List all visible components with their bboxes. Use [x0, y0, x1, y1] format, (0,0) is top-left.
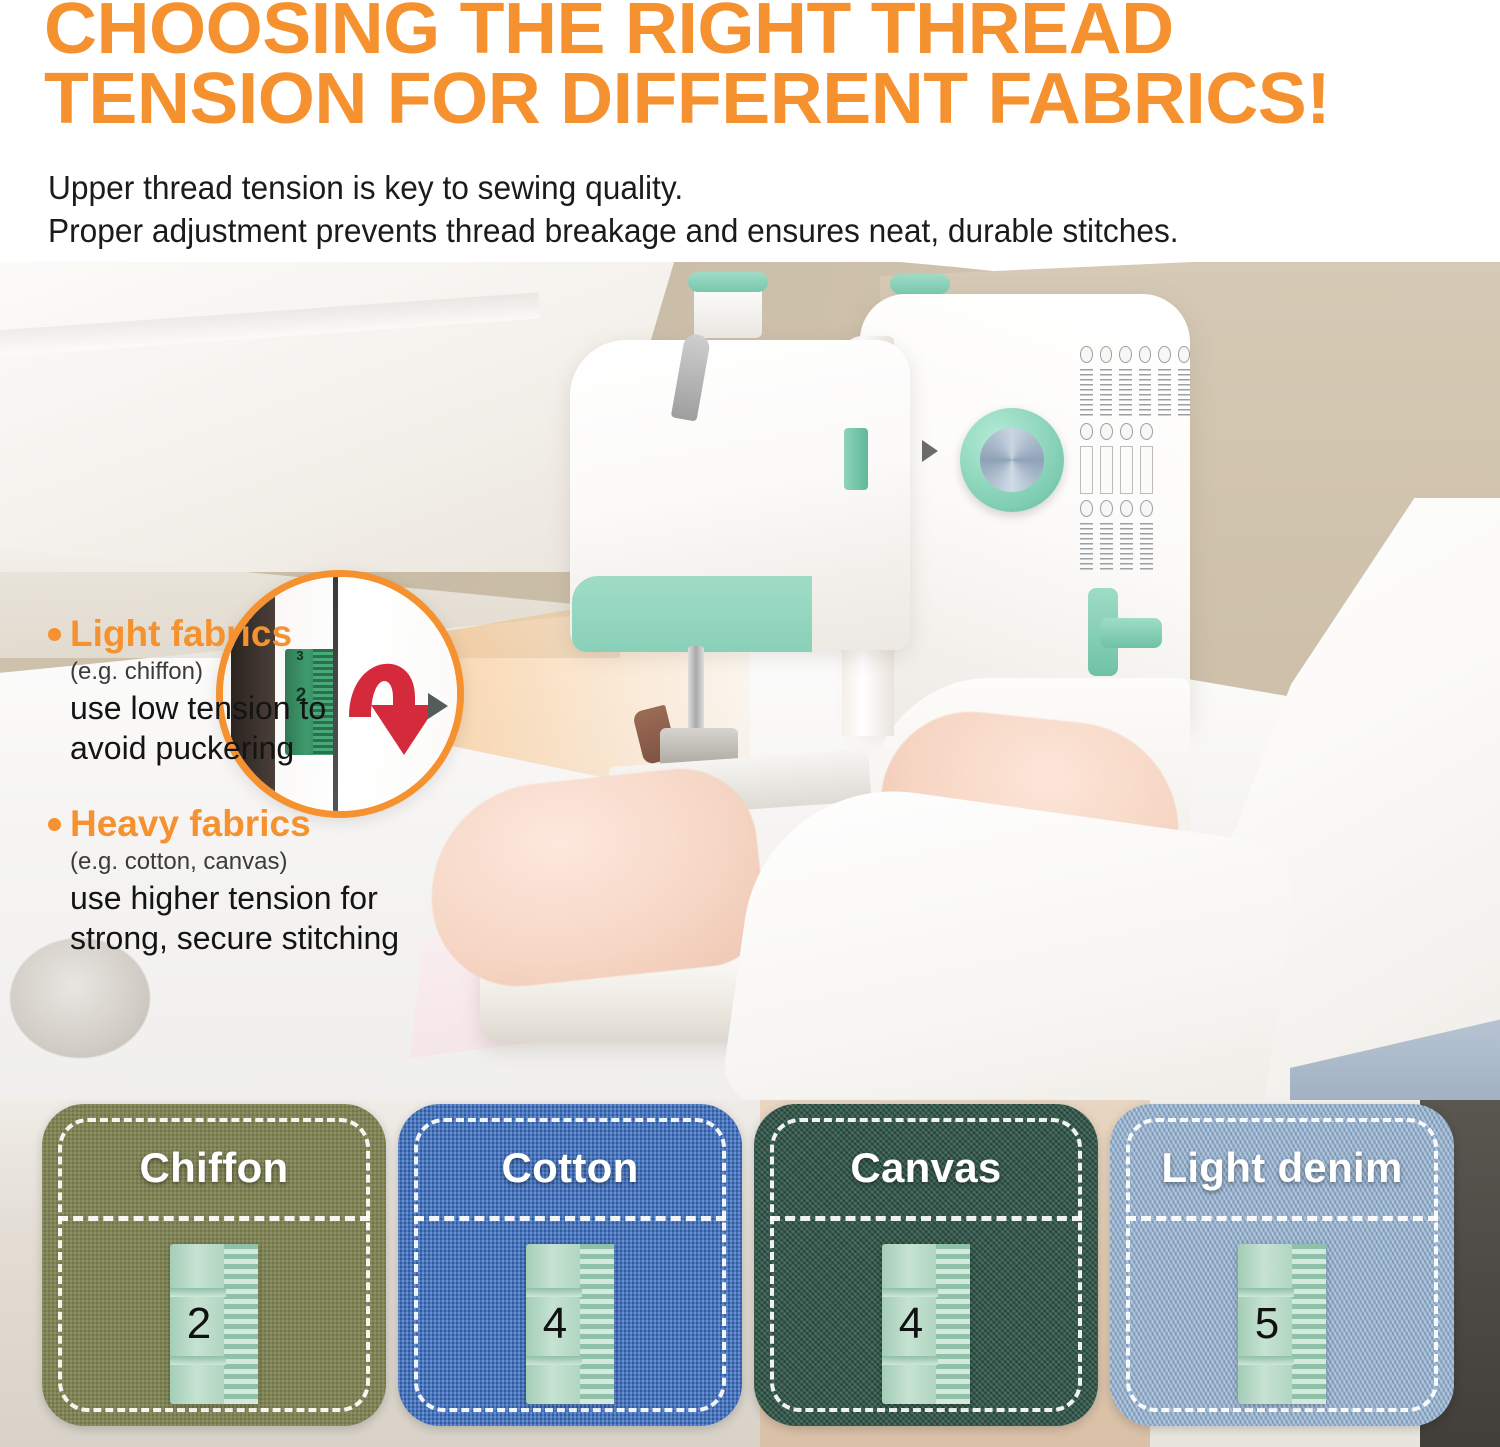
stitch-selector-pointer-icon — [922, 440, 938, 462]
stitch-number-icon — [1140, 423, 1153, 440]
tip-body-line-2: strong, secure stitching — [70, 918, 518, 958]
stitch-chart-row — [1080, 500, 1190, 517]
header: CHOOSING THE RIGHT THREAD TENSION FOR DI… — [0, 0, 1500, 262]
fabric-card-label: Canvas — [754, 1144, 1098, 1192]
stitch-pattern-icon — [1178, 369, 1191, 417]
tip-example: (e.g. cotton, canvas) — [70, 846, 518, 878]
stitch-pattern-icon — [1120, 523, 1133, 571]
stitch-pattern-icon — [1080, 446, 1093, 494]
stitch-selector-dial — [960, 408, 1064, 512]
stitch-pattern-icon — [1100, 369, 1113, 417]
tension-dial-side — [844, 428, 868, 490]
spool-pin-cap — [688, 272, 768, 292]
stitch-divider — [770, 1216, 1082, 1221]
fabric-card-label: Chiffon — [42, 1144, 386, 1192]
stitch-chart-row — [1080, 523, 1190, 571]
stitch-pattern-icon — [1119, 369, 1132, 417]
stitch-number-icon — [1139, 346, 1152, 363]
tension-knob-notch — [1238, 1356, 1294, 1365]
stitch-divider — [58, 1216, 370, 1221]
subtitle-line-2: Proper adjustment prevents thread breaka… — [48, 209, 1421, 252]
stitch-divider — [1126, 1216, 1438, 1221]
tip-example: (e.g. chiffon) — [70, 656, 518, 688]
tension-knob-notch — [170, 1288, 226, 1297]
stitch-number-icon — [1120, 423, 1133, 440]
stitch-chart-row — [1080, 346, 1190, 363]
stitch-pattern-icon — [1100, 446, 1113, 494]
tip-heading-label: Light fabrics — [70, 612, 292, 656]
tension-knob[interactable]: 4 — [882, 1244, 970, 1404]
machine-arm-teal-trim — [572, 576, 812, 652]
tension-knob-ridges — [224, 1244, 258, 1404]
stitch-pattern-icon — [1140, 446, 1153, 494]
fabric-tension-cards: Chiffon 2 Cotton 4 Canvas 4 — [0, 1100, 1500, 1447]
stitch-selector-dial-face — [980, 428, 1044, 492]
tip-light-fabrics: Light fabrics (e.g. chiffon) use low ten… — [48, 612, 518, 768]
page-subtitle: Upper thread tension is key to sewing qu… — [48, 166, 1421, 252]
title-line-2: TENSION FOR DIFFERENT FABRICS! — [44, 64, 1500, 134]
fabric-card-cotton[interactable]: Cotton 4 — [398, 1104, 742, 1426]
tip-body: use low tension to avoid puckering — [70, 688, 518, 768]
stitch-pattern-icon — [1080, 369, 1093, 417]
tension-value: 4 — [884, 1300, 938, 1348]
tension-knob[interactable]: 2 — [170, 1244, 258, 1404]
fabric-tips-list: Light fabrics (e.g. chiffon) use low ten… — [48, 612, 518, 992]
stitch-divider — [414, 1216, 726, 1221]
stitch-number-icon — [1080, 423, 1093, 440]
presser-foot-lifter — [1100, 618, 1162, 648]
stitch-chart-row — [1080, 369, 1190, 417]
tip-body-line-2: avoid puckering — [70, 728, 518, 768]
tension-value: 4 — [528, 1300, 582, 1348]
tip-heavy-fabrics: Heavy fabrics (e.g. cotton, canvas) use … — [48, 802, 518, 958]
stitch-number-icon — [1120, 500, 1133, 517]
tip-heading-label: Heavy fabrics — [70, 802, 311, 846]
stitch-pattern-icon — [1140, 523, 1153, 571]
fabric-card-chiffon[interactable]: Chiffon 2 — [42, 1104, 386, 1426]
tension-knob-notch — [882, 1356, 938, 1365]
stitch-chart-row — [1080, 446, 1190, 494]
tension-knob-notch — [526, 1356, 582, 1365]
tip-heading: Light fabrics — [48, 612, 518, 656]
subtitle-line-1: Upper thread tension is key to sewing qu… — [48, 166, 1421, 209]
tension-knob-notch — [882, 1288, 938, 1297]
stitch-number-icon — [1100, 423, 1113, 440]
tension-knob[interactable]: 5 — [1238, 1244, 1326, 1404]
fabric-card-label: Cotton — [398, 1144, 742, 1192]
stitch-chart-row — [1080, 423, 1190, 440]
stitch-pattern-icon — [1139, 369, 1152, 417]
cabinet-edge-line — [0, 292, 540, 357]
fabric-card-light-denim[interactable]: Light denim 5 — [1110, 1104, 1454, 1426]
stitch-number-icon — [1100, 500, 1113, 517]
stitch-number-icon — [1119, 346, 1132, 363]
bobbin-winder — [890, 274, 950, 294]
stitch-pattern-icon — [1158, 369, 1171, 417]
stitch-pattern-icon — [1120, 446, 1133, 494]
tension-knob-notch — [526, 1288, 582, 1297]
tip-body: use higher tension for strong, secure st… — [70, 878, 518, 958]
tip-body-line-1: use higher tension for — [70, 878, 518, 918]
stitch-number-icon — [1080, 346, 1093, 363]
stitch-number-icon — [1140, 500, 1153, 517]
page-title: CHOOSING THE RIGHT THREAD TENSION FOR DI… — [44, 0, 1500, 134]
tension-knob-ridges — [1292, 1244, 1326, 1404]
tension-knob-ridges — [936, 1244, 970, 1404]
fabric-card-label: Light denim — [1110, 1144, 1454, 1192]
stitch-number-icon — [1178, 346, 1191, 363]
stitch-pattern-icon — [1100, 523, 1113, 571]
bullet-dot-icon — [48, 628, 61, 641]
tension-knob-notch — [170, 1356, 226, 1365]
tension-value: 2 — [172, 1300, 226, 1348]
stitch-number-icon — [1080, 500, 1093, 517]
tension-knob-notch — [1238, 1288, 1294, 1297]
stitch-pattern-icon — [1080, 523, 1093, 571]
tip-heading: Heavy fabrics — [48, 802, 518, 846]
bullet-dot-icon — [48, 818, 61, 831]
tension-knob[interactable]: 4 — [526, 1244, 614, 1404]
tension-value: 5 — [1240, 1300, 1294, 1348]
fabric-card-canvas[interactable]: Canvas 4 — [754, 1104, 1098, 1426]
tension-knob-ridges — [580, 1244, 614, 1404]
tip-body-line-1: use low tension to — [70, 688, 518, 728]
stitch-number-icon — [1100, 346, 1113, 363]
stitch-number-icon — [1158, 346, 1171, 363]
